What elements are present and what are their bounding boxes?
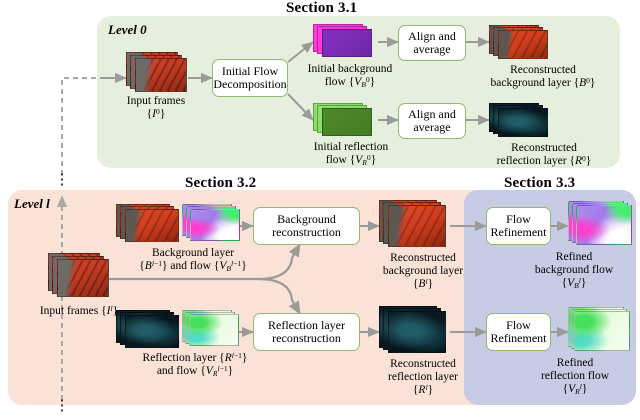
box-reflection-layer-reconstruction[interactable]: Reflection layer reconstruction	[253, 313, 360, 351]
thumb-initial-reflection-flow	[313, 103, 381, 143]
thumb-initial-background-flow	[313, 24, 381, 64]
ellipsis-top: ⋮	[52, 172, 72, 189]
figure-canvas: Section 3.1 Section 3.2 Section 3.3 Leve…	[0, 0, 640, 420]
caption-initial-background-flow: Initial background flow {VB0}	[289, 63, 411, 90]
thumb-refined-background-flow	[568, 201, 638, 251]
box-align-and-average-reflection[interactable]: Align and average	[398, 103, 466, 139]
thumb-reflection-flow-prev	[182, 310, 246, 354]
box-initial-flow-decomposition[interactable]: Initial Flow Decomposition	[212, 59, 288, 97]
caption-initial-reflection-flow: Initial reflection flow {VR0}	[291, 141, 411, 168]
box-flow-refinement-background[interactable]: Flow Refinement	[486, 207, 551, 245]
box-background-reconstruction[interactable]: Background reconstruction	[253, 207, 360, 245]
caption-refined-reflection-flow: Refined reflection flow {VRl}	[511, 357, 639, 396]
caption-reconstructed-reflection-level-l: Reconstructed reflection layer {Rl}	[362, 358, 484, 397]
caption-reconstructed-background-level0: Reconstructed background layer {B0}	[458, 64, 628, 90]
box-flow-refinement-reflection[interactable]: Flow Refinement	[486, 313, 551, 351]
thumb-input-frames-level0	[126, 52, 188, 94]
caption-input-frames-level0: Input frames {I0}	[96, 95, 216, 121]
thumb-input-frames-level-l	[48, 253, 112, 301]
caption-reconstructed-reflection-level0: Reconstructed reflection layer {R0}	[461, 142, 627, 168]
thumb-reconstructed-reflection-level-l	[379, 306, 453, 358]
caption-reflection-layer-prev: Reflection layer {Rl−1} and flow {VRl−1}	[100, 352, 290, 379]
thumb-reconstructed-background-level0	[489, 25, 557, 65]
thumb-refined-reflection-flow	[568, 307, 638, 357]
caption-reconstructed-background-level-l: Reconstructed background layer {Bl}	[362, 252, 484, 291]
arrow-ifd-to-bgflow	[288, 42, 313, 62]
caption-refined-background-flow: Refined background flow {VBl}	[509, 251, 639, 290]
thumb-reconstructed-reflection-level0	[489, 103, 557, 143]
arrow-ifd-to-rflow	[288, 94, 313, 120]
thumb-reflection-layer-prev	[116, 310, 188, 354]
caption-background-layer-prev: Background layer {Bl−1} and flow {VBl−1}	[104, 247, 282, 274]
thumb-background-layer-prev	[116, 204, 188, 248]
box-align-and-average-background[interactable]: Align and average	[398, 25, 466, 61]
ellipsis-bottom: ⋮	[52, 398, 72, 415]
thumb-background-flow-prev	[182, 204, 246, 248]
thumb-reconstructed-background-level-l	[379, 200, 453, 252]
